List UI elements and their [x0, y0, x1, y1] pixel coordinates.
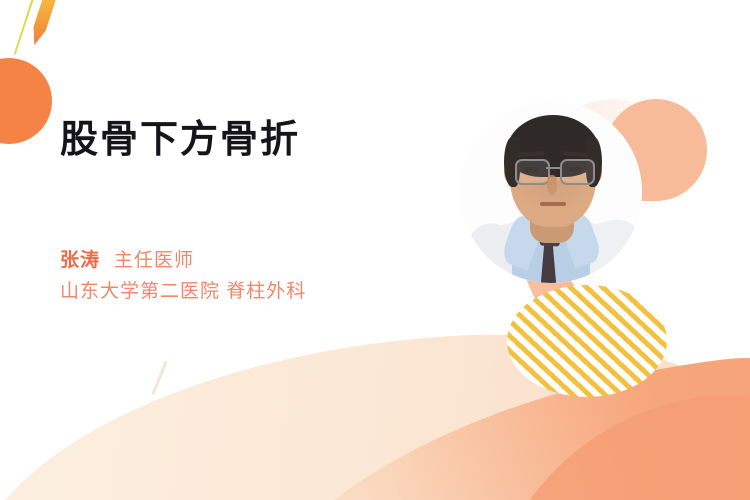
- nose: [547, 175, 557, 195]
- portrait-group: [455, 95, 740, 395]
- doctor-affiliation: 山东大学第二医院 脊柱外科: [60, 281, 306, 302]
- yellow-striped-disc-icon: [507, 285, 667, 397]
- diagonal-tick-icon: [151, 361, 167, 396]
- avatar: [460, 101, 642, 283]
- salmon-wave-shape-secondary: [458, 379, 750, 500]
- glasses-lens-left: [515, 159, 550, 185]
- doctor-name: 张涛: [60, 250, 100, 271]
- orange-circle-icon: [0, 58, 52, 144]
- glasses-bridge: [546, 167, 560, 169]
- diagonal-line-yellow-icon: [14, 0, 36, 55]
- doctor-intro-card: 股骨下方骨折 张涛主任医师 山东大学第二医院 脊柱外科: [0, 0, 750, 500]
- doctor-meta: 张涛主任医师 山东大学第二医院 脊柱外科: [60, 246, 306, 308]
- glasses-lens-right: [560, 159, 595, 185]
- doctor-name-line: 张涛主任医师: [60, 246, 306, 277]
- doctor-title: 主任医师: [114, 250, 194, 271]
- diagonal-stripe-orange-icon: [28, 0, 60, 47]
- mouth: [540, 202, 566, 206]
- doctor-affiliation-line: 山东大学第二医院 脊柱外科: [60, 277, 306, 308]
- page-title: 股骨下方骨折: [60, 117, 300, 165]
